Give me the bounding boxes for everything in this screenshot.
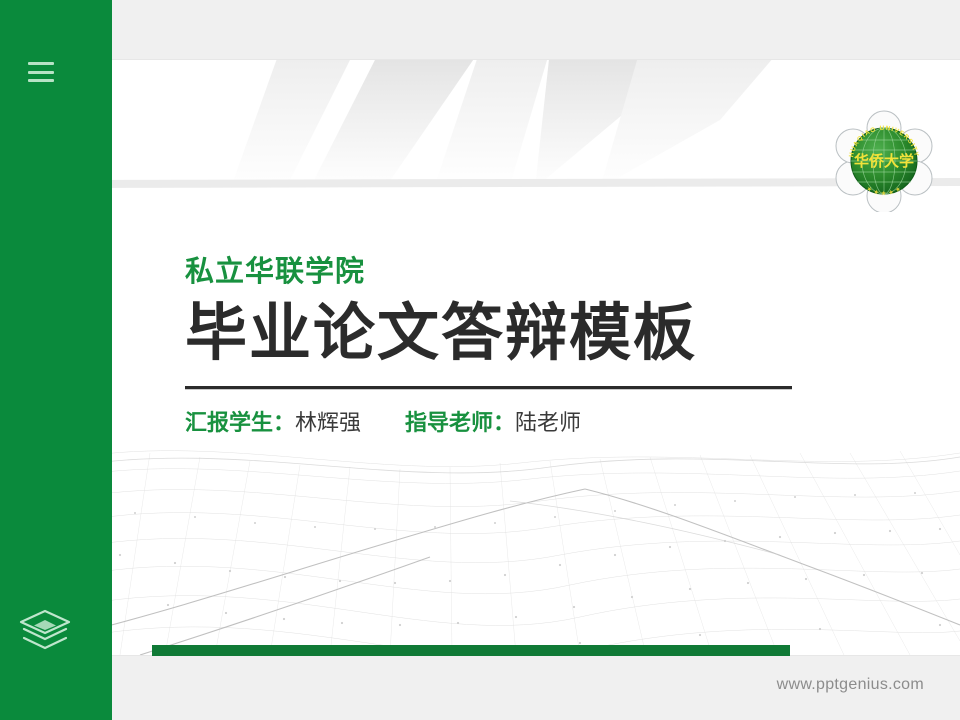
presentation-slide: HUAQIAO UNIVERSITY ★ ★ ★ ★ ★ 华侨大学 私立华联学院… (0, 0, 960, 720)
school-name: 私立华联学院 (185, 258, 885, 287)
hamburger-menu-icon[interactable] (28, 62, 54, 82)
accent-bar (152, 645, 790, 656)
presenter-label: 汇报学生： (185, 410, 295, 435)
title-block: 私立华联学院 毕业论文答辩模板 汇报学生：林辉强指导老师：陆老师 (185, 258, 885, 434)
page-title: 毕业论文答辩模板 (185, 301, 885, 368)
emblem-center-text: 华侨大学 (854, 152, 914, 170)
university-emblem-icon: HUAQIAO UNIVERSITY ★ ★ ★ ★ ★ 华侨大学 (832, 108, 936, 212)
wireframe-mesh-decoration (80, 405, 960, 655)
hamburger-bar-1 (28, 62, 54, 65)
byline-row: 汇报学生：林辉强指导老师：陆老师 (185, 412, 885, 434)
title-divider (185, 386, 792, 390)
hamburger-bar-2 (28, 71, 54, 74)
presenter-name: 林辉强 (295, 410, 361, 435)
sidebar (0, 0, 112, 720)
hamburger-bar-3 (28, 79, 54, 82)
footer-url: www.pptgenius.com (777, 676, 924, 694)
advisor-label: 指导老师： (405, 410, 515, 435)
slide-content-card: HUAQIAO UNIVERSITY ★ ★ ★ ★ ★ 华侨大学 私立华联学院… (80, 60, 960, 655)
layers-stack-icon[interactable] (18, 608, 72, 654)
advisor-name: 陆老师 (515, 410, 581, 435)
